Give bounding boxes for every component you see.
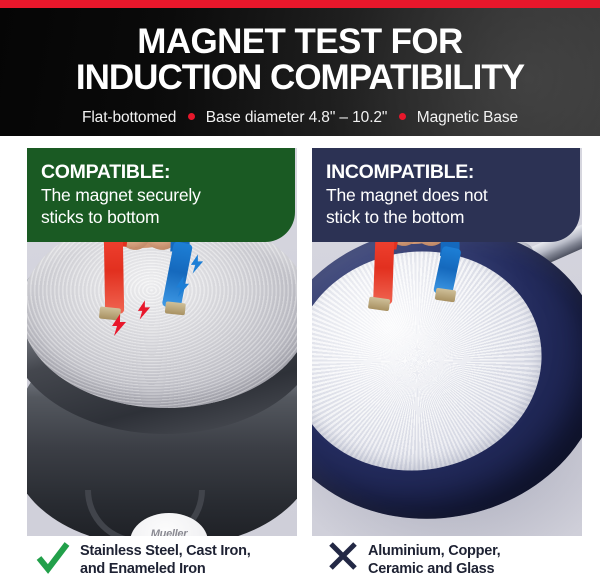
badge-line-1: The magnet securely [41,185,281,206]
badge-line-2: stick to the bottom [326,207,566,228]
caption-line-1: Stainless Steel, Cast Iron, [80,543,251,559]
title-line-1: MAGNET TEST FOR [137,22,462,61]
subtitle: Flat-bottomed Base diameter 4.8" – 10.2"… [0,108,600,128]
spark-red-2 [137,300,151,320]
badge-line-1: The magnet does not [326,185,566,206]
bullet-dot-icon [399,113,406,120]
magnet-leg-red [373,238,394,305]
page-title: MAGNET TEST FOR INDUCTION COMPATIBILITY [0,24,600,96]
magnet-tip-blue [435,288,456,303]
caption-incompatible: Aluminium, Copper, Ceramic and Glass [328,541,593,578]
subtitle-part-3: Magnetic Base [417,109,518,126]
subtitle-part-2: Base diameter 4.8" – 10.2" [206,109,388,126]
infographic-root: MAGNET TEST FOR INDUCTION COMPATIBILITY … [0,0,600,584]
top-accent-bar [0,0,600,8]
badge-line-2: sticks to bottom [41,207,281,228]
panel-incompatible: INCOMPATIBLE: The magnet does not stick … [312,148,582,536]
panel-compatible: Mueller 18/8 STAINLESS STEEL [27,148,297,536]
magnet-tip-blue [165,301,186,315]
cross-icon [328,541,358,571]
magnet-leg-red [104,236,124,314]
caption-line-2: Ceramic and Glass [368,561,494,577]
badge-compatible: COMPATIBLE: The magnet securely sticks t… [27,148,295,242]
caption-text-compatible: Stainless Steel, Cast Iron, and Enameled… [80,541,251,578]
caption-line-1: Aluminium, Copper, [368,543,500,559]
spark-blue-1 [175,276,190,297]
title-line-2: INDUCTION COMPATIBILITY [0,60,600,96]
badge-incompatible: INCOMPATIBLE: The magnet does not stick … [312,148,580,242]
bullet-dot-icon [188,113,195,120]
photo-stainless-pot: Mueller 18/8 STAINLESS STEEL [27,148,297,536]
brand-logo-text: Mueller [151,528,187,537]
check-icon [36,541,70,575]
spark-red-1 [111,314,127,336]
photo-navy-frypan: INCOMPATIBLE: The magnet does not stick … [312,148,582,536]
header-banner: MAGNET TEST FOR INDUCTION COMPATIBILITY … [0,8,600,136]
caption-text-incompatible: Aluminium, Copper, Ceramic and Glass [368,541,500,578]
caption-compatible: Stainless Steel, Cast Iron, and Enameled… [36,541,301,578]
spark-blue-2 [190,254,204,274]
subtitle-part-1: Flat-bottomed [82,109,176,126]
caption-line-2: and Enameled Iron [80,561,205,577]
badge-title: INCOMPATIBLE: [326,160,566,184]
badge-title: COMPATIBLE: [41,160,281,184]
